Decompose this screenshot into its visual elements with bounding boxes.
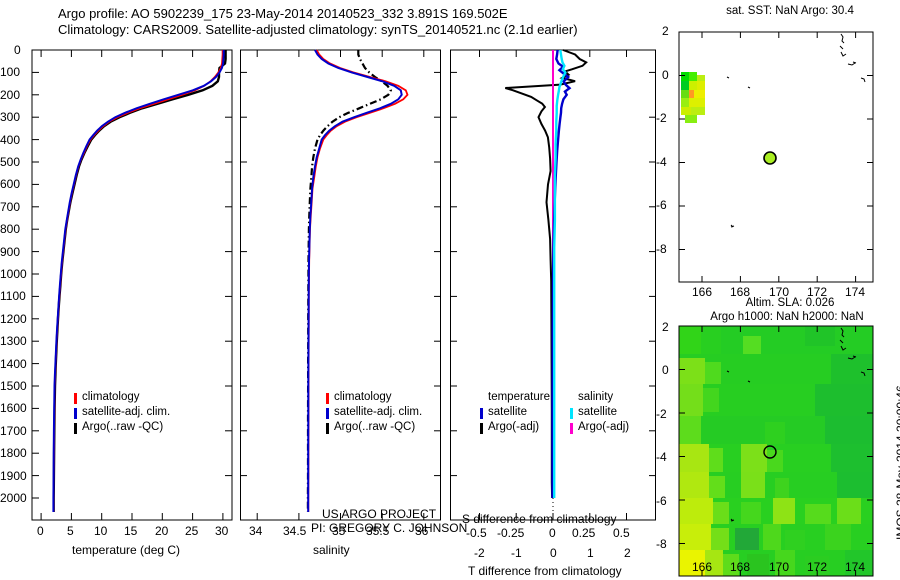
temp-xtick-0: 0 (37, 524, 44, 538)
tdiff-xtick--2: -2 (474, 546, 485, 560)
temp-ytick-1200: 1200 (0, 312, 27, 326)
temp-ytick-400: 400 (0, 133, 20, 147)
legend-label-satellite: satellite-adj. clim. (334, 406, 422, 418)
sla-ytick--8: -8 (656, 537, 667, 551)
temp-ytick-800: 800 (0, 222, 20, 236)
legend-label-satellite: satellite-adj. clim. (82, 406, 170, 418)
legend-label-argo: Argo(..raw -QC) (82, 421, 163, 433)
sla-xtick-168: 168 (730, 560, 750, 574)
sst-ytick-2: 2 (662, 24, 669, 38)
temp-ytick-1900: 1900 (0, 469, 27, 483)
legend-label-temperature-satellite: satellite (488, 406, 527, 418)
temp-ytick-1800: 1800 (0, 446, 27, 460)
tdiff-xtick--1: -1 (511, 546, 522, 560)
temp-ytick-300: 300 (0, 110, 20, 124)
temperature-xticks (41, 50, 223, 520)
temp-ytick-100: 100 (0, 65, 20, 79)
sst-map-plot (655, 20, 900, 290)
salinity-difference-axis-label: S difference from climatology (462, 512, 617, 526)
legend-swatch-argo (326, 423, 329, 434)
sla-ytick--2: -2 (656, 407, 667, 421)
legend-group-title-temperature: temperature (488, 391, 550, 403)
sst-ytick--4: -4 (656, 155, 667, 169)
sst-map-title: sat. SST: NaN Argo: 30.4 (690, 5, 890, 17)
sla-xtick-172: 172 (807, 560, 827, 574)
legend-swatch-temperature-satellite (480, 408, 483, 419)
temperature-axis-label: temperature (deg C) (72, 543, 180, 557)
sla-ytick--6: -6 (656, 494, 667, 508)
sdiff-xtick-0.25: 0.25 (572, 526, 595, 540)
temp-ytick-500: 500 (0, 155, 20, 169)
tdiff-xtick-1: 1 (587, 546, 594, 560)
page-title-line1: Argo profile: AO 5902239_175 23-May-2014… (58, 6, 508, 22)
sla-ytick--4: -4 (656, 450, 667, 464)
temp-ytick-1400: 1400 (0, 357, 27, 371)
legend-label-climatology: climatology (82, 391, 140, 403)
sdiff-xtick-0.5: 0.5 (613, 526, 630, 540)
temp-ytick-600: 600 (0, 177, 20, 191)
sst-ytick--8: -8 (656, 242, 667, 256)
legend-group-title-salinity: salinity (578, 391, 613, 403)
sal-xtick-34: 34 (249, 524, 262, 538)
salinity-plot (240, 42, 445, 542)
temp-ytick-1600: 1600 (0, 401, 27, 415)
sla-map-panel (655, 318, 900, 580)
sla-map-plot (655, 318, 900, 580)
tdiff-xtick-0: 0 (550, 546, 557, 560)
legend-label-argo: Argo(..raw -QC) (334, 421, 415, 433)
difference-plot (450, 42, 660, 542)
legend-swatch-argo (74, 423, 77, 434)
legend-label-salinity-argo: Argo(-adj) (578, 421, 629, 433)
temp-xtick-5: 5 (67, 524, 74, 538)
temp-ytick-0: 0 (14, 43, 21, 57)
sst-ytick-0: 0 (662, 68, 669, 82)
temp-xtick-20: 20 (155, 524, 168, 538)
imos-timestamp-text: IMOS 28-May-2014 20:00:46 (894, 385, 900, 540)
temperature-series-climatology (54, 50, 223, 512)
temp-ytick-200: 200 (0, 88, 20, 102)
sst-ytick--6: -6 (656, 198, 667, 212)
legend-swatch-salinity-satellite (570, 408, 573, 419)
page-title-line2: Climatology: CARS2009. Satellite-adjuste… (58, 22, 578, 38)
sla-map-title-line1: Altim. SLA: 0.026 (690, 297, 890, 309)
salinity-panel (240, 42, 445, 542)
imos-timestamp: IMOS 28-May-2014 20:00:46 (894, 540, 900, 554)
temp-ytick-1500: 1500 (0, 379, 27, 393)
sdiff-xtick--0.5: -0.5 (466, 526, 487, 540)
project-credit: US ARGO PROJECT (322, 507, 436, 521)
temperature-difference-axis-label: T difference from climatology (468, 564, 622, 578)
temp-ytick-900: 900 (0, 245, 20, 259)
sst-ytick--2: -2 (656, 111, 667, 125)
salinity-axis-label: salinity (313, 543, 350, 557)
salinity-series-satellite (308, 50, 402, 512)
legend-label-temperature-argo: Argo(-adj) (488, 421, 539, 433)
temperature-plot (0, 42, 240, 542)
legend-swatch-climatology (326, 393, 329, 404)
sla-xtick-166: 166 (692, 560, 712, 574)
temp-xtick-10: 10 (94, 524, 107, 538)
temperature-series-argo (54, 50, 226, 512)
pi-credit: PI: GREGORY C. JOHNSON (311, 521, 467, 535)
sdiff-xtick--0.25: -0.25 (497, 526, 524, 540)
legend-swatch-satellite (74, 408, 77, 419)
temperature-panel: 0 100 200 300 400 500 600 700 800 900 10… (0, 42, 240, 542)
legend-swatch-satellite (326, 408, 329, 419)
temp-xtick-30: 30 (215, 524, 228, 538)
legend-swatch-salinity-argo (570, 423, 573, 434)
temp-ytick-1000: 1000 (0, 267, 27, 281)
temp-xtick-25: 25 (185, 524, 198, 538)
sla-xtick-174: 174 (845, 560, 865, 574)
sdiff-xtick-0: 0 (549, 526, 556, 540)
temp-ytick-700: 700 (0, 200, 20, 214)
sst-map-panel (655, 20, 900, 290)
difference-panel (450, 42, 660, 542)
sla-ytick-0: 0 (662, 363, 669, 377)
temperature-series-satellite (53, 50, 223, 512)
temp-xtick-15: 15 (124, 524, 137, 538)
salinity-series-climatology (308, 50, 407, 512)
temp-ytick-1100: 1100 (0, 289, 26, 303)
sla-ytick-2: 2 (662, 320, 669, 334)
sal-xtick-34.5: 34.5 (283, 524, 306, 538)
temp-ytick-2000: 2000 (0, 491, 27, 505)
legend-swatch-temperature-argo (480, 423, 483, 434)
temp-ytick-1700: 1700 (0, 424, 27, 438)
legend-label-climatology: climatology (334, 391, 392, 403)
temp-ytick-1300: 1300 (0, 334, 27, 348)
legend-swatch-climatology (74, 393, 77, 404)
sla-xtick-170: 170 (769, 560, 789, 574)
legend-label-salinity-satellite: satellite (578, 406, 617, 418)
salinity-xticks (257, 50, 424, 520)
sst-argo-marker (764, 152, 776, 164)
tdiff-xtick-2: 2 (624, 546, 631, 560)
